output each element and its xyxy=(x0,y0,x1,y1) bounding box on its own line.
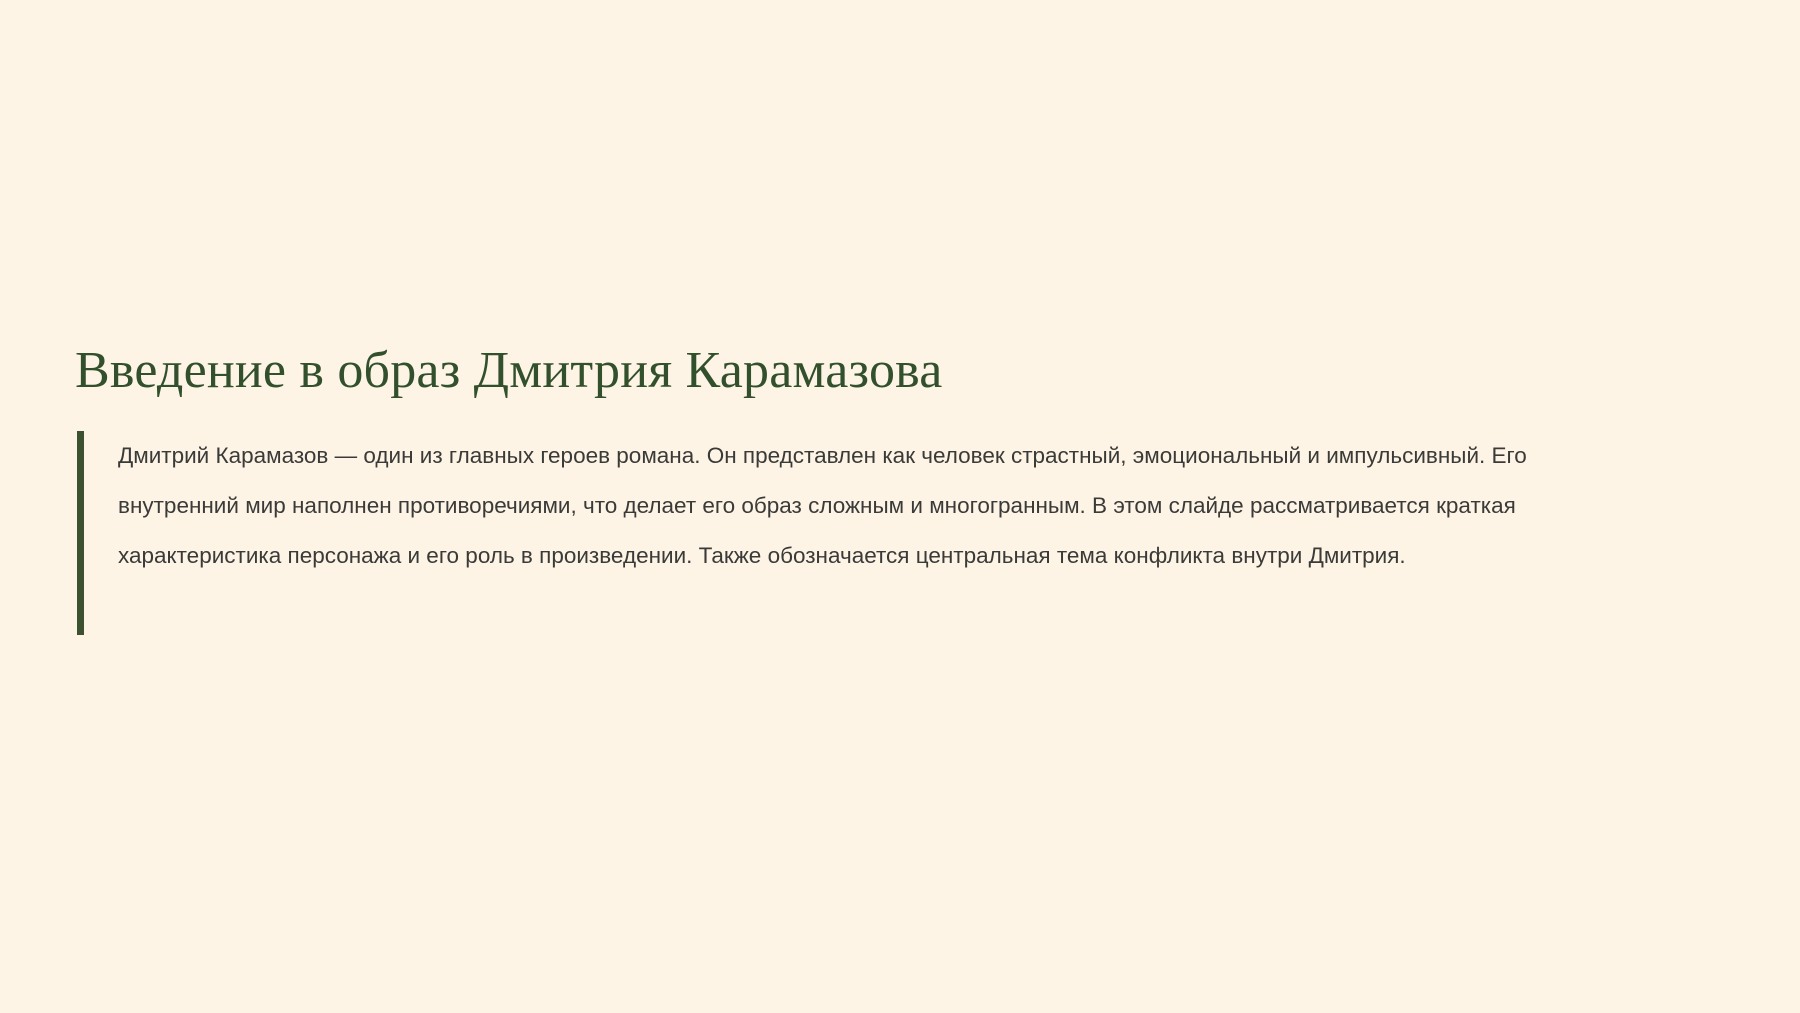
presentation-slide: Введение в образ Дмитрия Карамазова Дмит… xyxy=(0,0,1800,1013)
slide-content-block: Введение в образ Дмитрия Карамазова Дмит… xyxy=(72,340,1732,635)
page-title: Введение в образ Дмитрия Карамазова xyxy=(72,340,1732,401)
body-quote-block: Дмитрий Карамазов — один из главных геро… xyxy=(72,431,1732,635)
body-paragraph: Дмитрий Карамазов — один из главных геро… xyxy=(118,431,1548,581)
accent-bar xyxy=(77,431,84,635)
